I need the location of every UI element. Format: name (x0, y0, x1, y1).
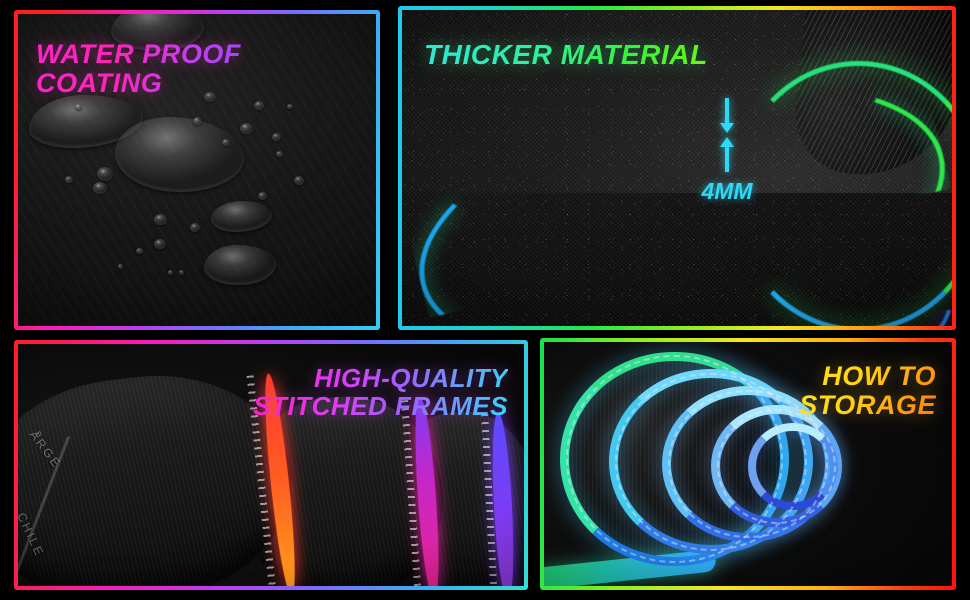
water-bead (190, 223, 200, 232)
panel-waterproof-inner: WATER PROOF COATING (18, 14, 376, 326)
panel-stitched-inner: ARGE B Santiago CHILE HIGH-QUALITY STITC… (18, 344, 524, 586)
panel-thicker-inner: 4MM THICKER MATERIAL (402, 10, 952, 326)
panel-storage-inner: HOW TO STORAGE (544, 342, 952, 586)
water-bead (118, 264, 123, 269)
panel-thicker-headline: THICKER MATERIAL (424, 40, 708, 70)
panel-waterproof-headline: WATER PROOF COATING (36, 40, 241, 98)
water-bead (97, 167, 113, 181)
water-bead (179, 270, 184, 275)
water-bead (272, 133, 281, 141)
water-bead (65, 176, 73, 183)
world-map-print: ARGE B Santiago CHILE (18, 427, 109, 586)
panel-storage-headline: HOW TO STORAGE (799, 362, 936, 420)
thickness-callout: 4MM (697, 98, 757, 214)
map-coastline (18, 433, 114, 586)
arrow-down-icon (725, 98, 729, 124)
feature-infographic: WATER PROOF COATING 4MM THICKER MATE (0, 0, 970, 600)
coil-stitch-ring (717, 409, 835, 524)
panel-how-to-storage: HOW TO STORAGE (540, 338, 956, 590)
water-bead (258, 192, 267, 200)
map-label-chile: CHILE (18, 510, 47, 559)
panel-stitched-frames: ARGE B Santiago CHILE HIGH-QUALITY STITC… (14, 340, 528, 590)
water-bead (154, 239, 166, 249)
water-bead (222, 139, 230, 146)
water-bead (294, 176, 304, 185)
thickness-label: 4MM (701, 178, 752, 205)
map-label-buenos-aires: B (33, 430, 44, 440)
panel-stitched-headline: HIGH-QUALITY STITCHED FRAMES (253, 364, 508, 420)
panel-waterproof: WATER PROOF COATING (14, 10, 380, 330)
water-bead (154, 214, 167, 225)
map-label-argentina: ARGE (27, 428, 64, 471)
arrow-up-icon (725, 146, 729, 172)
panel-thicker-material: 4MM THICKER MATERIAL (398, 6, 956, 330)
